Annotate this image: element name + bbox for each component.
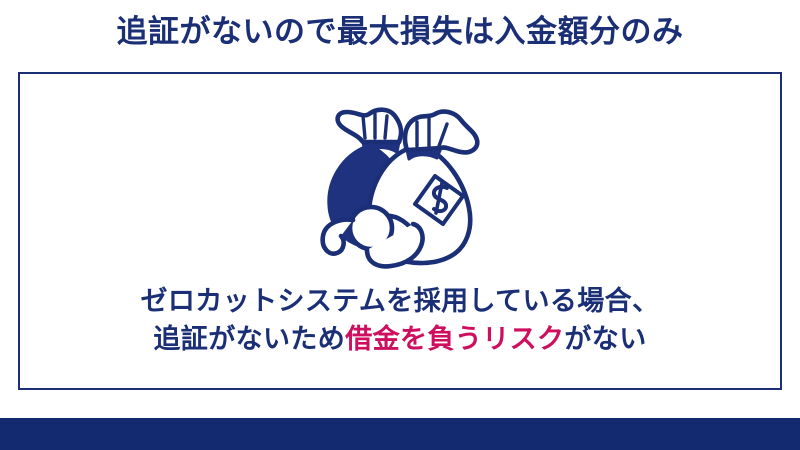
body-copy: ゼロカットシステムを採用している場合、 追証がないため借金を負うリスクがない bbox=[20, 282, 780, 359]
body-line-2-highlight: 借金を負うリスク bbox=[345, 324, 564, 354]
body-line-2: 追証がないため借金を負うリスクがない bbox=[20, 320, 780, 358]
body-line-2-suffix: がない bbox=[564, 324, 646, 354]
body-line-2-prefix: 追証がないため bbox=[153, 324, 345, 354]
rear-bag-fold-1 bbox=[363, 116, 365, 138]
content-card: ゼロカットシステムを採用している場合、 追証がないため借金を負うリスクがない bbox=[18, 72, 782, 390]
rear-bag-tie bbox=[338, 110, 401, 142]
slide-root: 追証がないので最大損失は入金額分のみ bbox=[0, 0, 800, 450]
page-title: 追証がないので最大損失は入金額分のみ bbox=[0, 14, 800, 50]
body-line-1: ゼロカットシステムを採用している場合、 bbox=[20, 282, 780, 320]
money-bag-crush-icon bbox=[311, 98, 489, 270]
money-bag-crush-illustration bbox=[311, 98, 489, 270]
bottom-accent-bar bbox=[0, 418, 800, 450]
rear-bag-fold-3 bbox=[385, 116, 387, 138]
